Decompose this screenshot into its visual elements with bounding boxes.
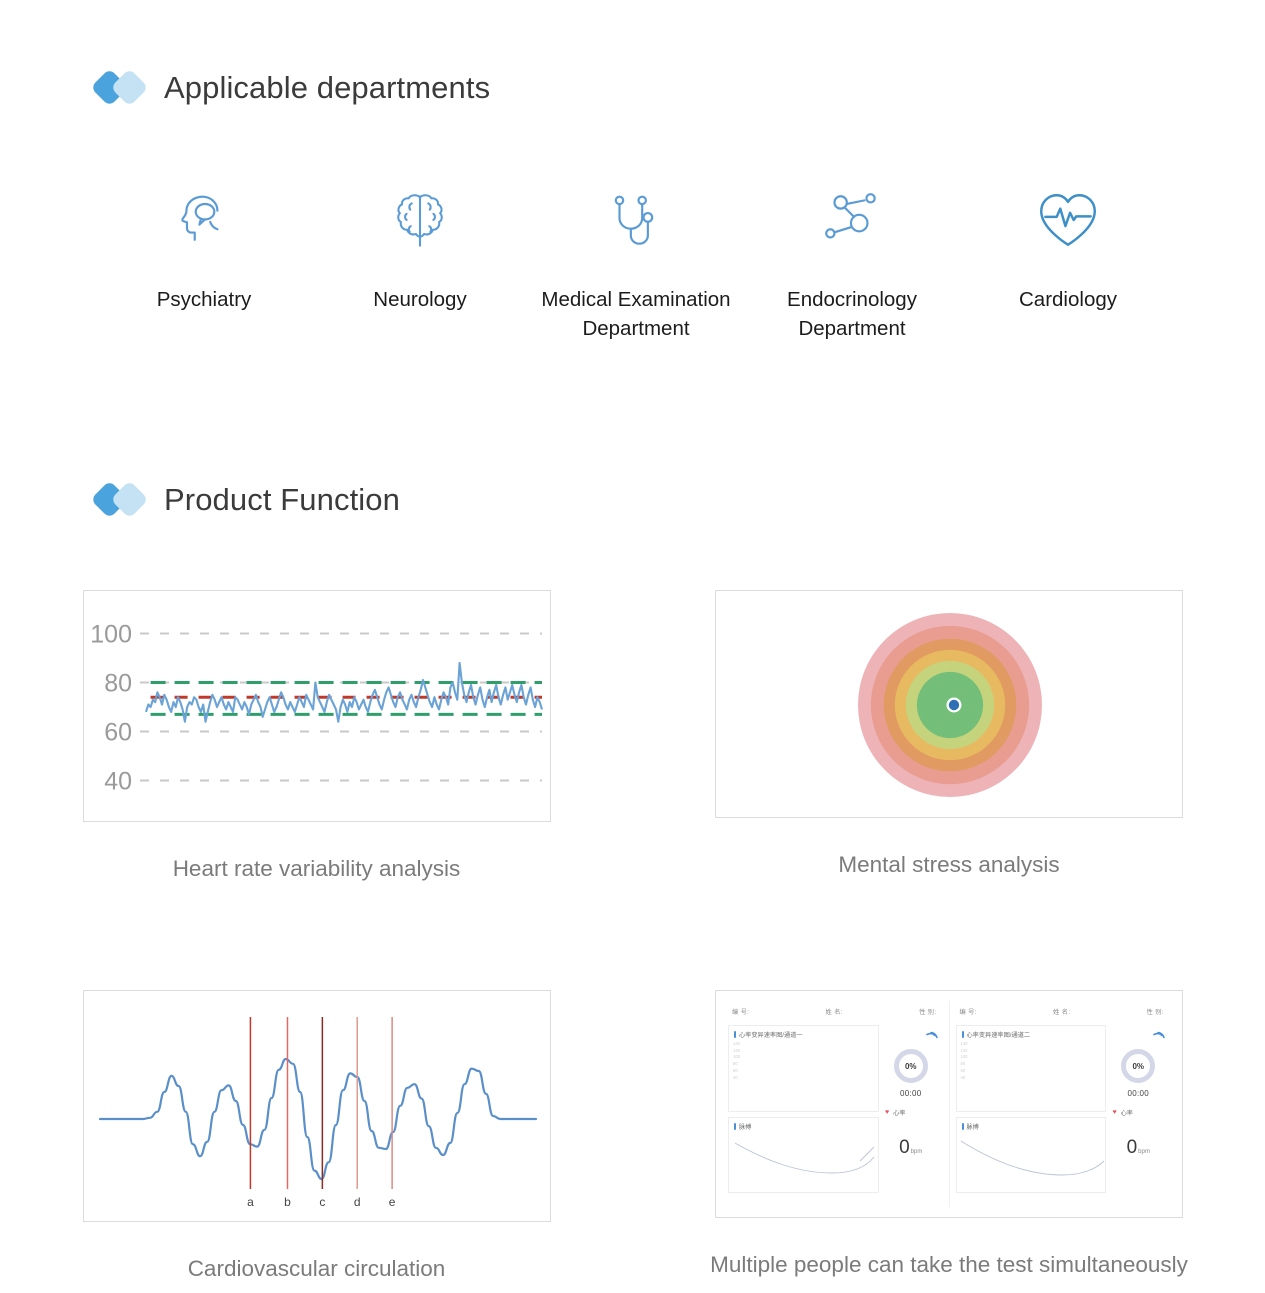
svg-text:60: 60 (104, 719, 132, 747)
functions-row-1: 100806040 Heart rate variability analysi… (0, 590, 1265, 882)
ytick: 40 (961, 1076, 968, 1080)
accent-bar-icon (734, 1031, 736, 1038)
pulse-mini-card: 脉搏 (956, 1117, 1107, 1193)
accent-bar-icon (962, 1123, 964, 1130)
dashboard-fields: 编 号: 姓 名: 性 别: (728, 1005, 943, 1016)
functions-row-2: abcde Cardiovascular circulation 编 号: 姓 … (0, 990, 1265, 1282)
heart-rate-value: 0 (1127, 1137, 1138, 1159)
dashboard-panel-2: 编 号: 姓 名: 性 别: 心率变异速率图/通道二 (949, 1001, 1177, 1207)
pulse-card-title: 脉搏 (739, 1122, 751, 1131)
function-caption: Mental stress analysis (838, 852, 1059, 878)
molecule-network-icon (819, 185, 885, 257)
multi-person-dashboard-panel: 编 号: 姓 名: 性 别: 心率变异速率图/通道一 (715, 990, 1183, 1218)
function-caption: Heart rate variability analysis (173, 856, 461, 882)
bird-icon (1153, 1029, 1166, 1047)
departments-list: Psychiatry Neurology (96, 185, 1176, 343)
head-profile-thought-icon (171, 185, 237, 257)
function-caption: Cardiovascular circulation (188, 1256, 446, 1282)
double-diamond-icon (96, 480, 154, 520)
stress-rings-panel (715, 590, 1183, 818)
dashboard-metrics-2: 0% 00:00 ♥ 心率 0 bpm (1106, 1025, 1170, 1193)
heart-icon: ♥ (1112, 1109, 1116, 1116)
field-gender-label: 性 别: (919, 1007, 936, 1016)
department-item-neurology[interactable]: Neurology (312, 185, 528, 314)
department-item-medical-examination[interactable]: Medical Examination Department (528, 185, 744, 343)
ytick: 140 (961, 1042, 968, 1046)
heart-rate-legend: ♥ 心率 (1106, 1108, 1133, 1117)
functions-section-header: Product Function (96, 480, 400, 520)
svg-text:80: 80 (104, 670, 132, 698)
ytick: 40 (733, 1076, 740, 1080)
stress-rings-svg (716, 591, 1183, 818)
timer-value: 00:00 (1127, 1089, 1149, 1098)
accent-bar-icon (734, 1123, 736, 1130)
department-item-psychiatry[interactable]: Psychiatry (96, 185, 312, 314)
ytick: 100 (733, 1055, 740, 1059)
svg-text:100: 100 (90, 621, 132, 649)
department-label: Medical Examination Department (541, 285, 730, 343)
waveform-chart-svg: abcde (84, 991, 551, 1222)
field-name-label: 姓 名: (826, 1007, 843, 1016)
ytick: 60 (961, 1069, 968, 1073)
hrv-mini-card: 心率变异速率图/通道一 140 120 100 80 60 40 (728, 1025, 879, 1112)
heart-rate-label: 心率 (1121, 1108, 1133, 1117)
ytick: 80 (733, 1062, 740, 1066)
progress-value: 0% (905, 1062, 917, 1071)
function-caption: Multiple people can take the test simult… (710, 1252, 1188, 1278)
progress-value: 0% (1132, 1062, 1144, 1071)
pulse-curve (729, 1131, 878, 1185)
dashboard-panel-1: 编 号: 姓 名: 性 别: 心率变异速率图/通道一 (722, 1001, 949, 1207)
ytick: 80 (961, 1062, 968, 1066)
heart-rate-unit: bpm (911, 1149, 923, 1155)
field-name-label: 姓 名: (1053, 1007, 1070, 1016)
hrv-card-title: 心率变异速率图/通道二 (967, 1030, 1031, 1039)
hrv-card-title: 心率变异速率图/通道一 (739, 1030, 803, 1039)
hrv-yticks: 140 120 100 80 60 40 (733, 1042, 740, 1080)
heart-rate-unit: bpm (1138, 1149, 1150, 1155)
field-id-label: 编 号: (732, 1007, 749, 1016)
heart-pulse-icon (1033, 185, 1103, 257)
functions-grid: 100806040 Heart rate variability analysi… (0, 590, 1265, 1282)
function-card-stress[interactable]: Mental stress analysis (633, 590, 1265, 882)
departments-section-header: Applicable departments (96, 68, 490, 108)
ytick: 140 (733, 1042, 740, 1046)
dashboard-fields: 编 号: 姓 名: 性 别: (956, 1005, 1171, 1016)
stethoscope-icon (603, 185, 669, 257)
field-id-label: 编 号: (960, 1007, 977, 1016)
department-label: Endocrinology Department (787, 285, 917, 343)
svg-text:d: d (353, 1195, 360, 1209)
field-gender-label: 性 别: (1147, 1007, 1164, 1016)
department-item-endocrinology[interactable]: Endocrinology Department (744, 185, 960, 343)
svg-text:40: 40 (104, 768, 132, 796)
department-item-cardiology[interactable]: Cardiology (960, 185, 1176, 314)
svg-text:e: e (388, 1195, 395, 1209)
page-title-functions: Product Function (164, 482, 400, 518)
double-diamond-icon (96, 68, 154, 108)
timer-value: 00:00 (900, 1089, 922, 1098)
svg-text:b: b (284, 1195, 291, 1209)
pulse-curve (957, 1131, 1106, 1185)
department-label: Cardiology (1019, 285, 1117, 314)
page-title-departments: Applicable departments (164, 70, 490, 106)
department-label: Psychiatry (157, 285, 252, 314)
ytick: 120 (733, 1049, 740, 1053)
ytick: 100 (961, 1055, 968, 1059)
heart-icon: ♥ (885, 1109, 889, 1116)
function-card-multi-person[interactable]: 编 号: 姓 名: 性 别: 心率变异速率图/通道一 (633, 990, 1265, 1282)
pulse-mini-card: 脉搏 (728, 1117, 879, 1193)
ytick: 60 (733, 1069, 740, 1073)
function-card-hrv[interactable]: 100806040 Heart rate variability analysi… (0, 590, 633, 882)
accent-bar-icon (962, 1031, 964, 1038)
heart-rate-value: 0 (899, 1137, 910, 1159)
svg-text:c: c (319, 1195, 325, 1209)
brain-icon (389, 185, 451, 257)
waveform-chart-panel: abcde (83, 990, 551, 1222)
bird-icon (926, 1029, 939, 1047)
hrv-mini-card: 心率变异速率图/通道二 140 120 100 80 60 40 (956, 1025, 1107, 1112)
department-label: Neurology (373, 285, 466, 314)
svg-text:a: a (247, 1195, 254, 1209)
progress-ring: 0% (1121, 1049, 1155, 1083)
heart-rate-label: 心率 (893, 1108, 905, 1117)
heart-rate-reading: 0 bpm (899, 1137, 922, 1159)
hrv-chart-svg: 100806040 (84, 591, 551, 822)
progress-ring: 0% (894, 1049, 928, 1083)
hrv-yticks: 140 120 100 80 60 40 (961, 1042, 968, 1080)
hrv-chart-panel: 100806040 (83, 590, 551, 822)
dashboard-metrics-1: 0% 00:00 ♥ 心率 0 bpm (879, 1025, 943, 1193)
heart-rate-legend: ♥ 心率 (879, 1108, 906, 1117)
heart-rate-reading: 0 bpm (1127, 1137, 1150, 1159)
pulse-card-title: 脉搏 (967, 1122, 979, 1131)
dashboard: 编 号: 姓 名: 性 别: 心率变异速率图/通道一 (716, 991, 1182, 1217)
function-card-cardiovascular[interactable]: abcde Cardiovascular circulation (0, 990, 633, 1282)
ytick: 120 (961, 1049, 968, 1053)
